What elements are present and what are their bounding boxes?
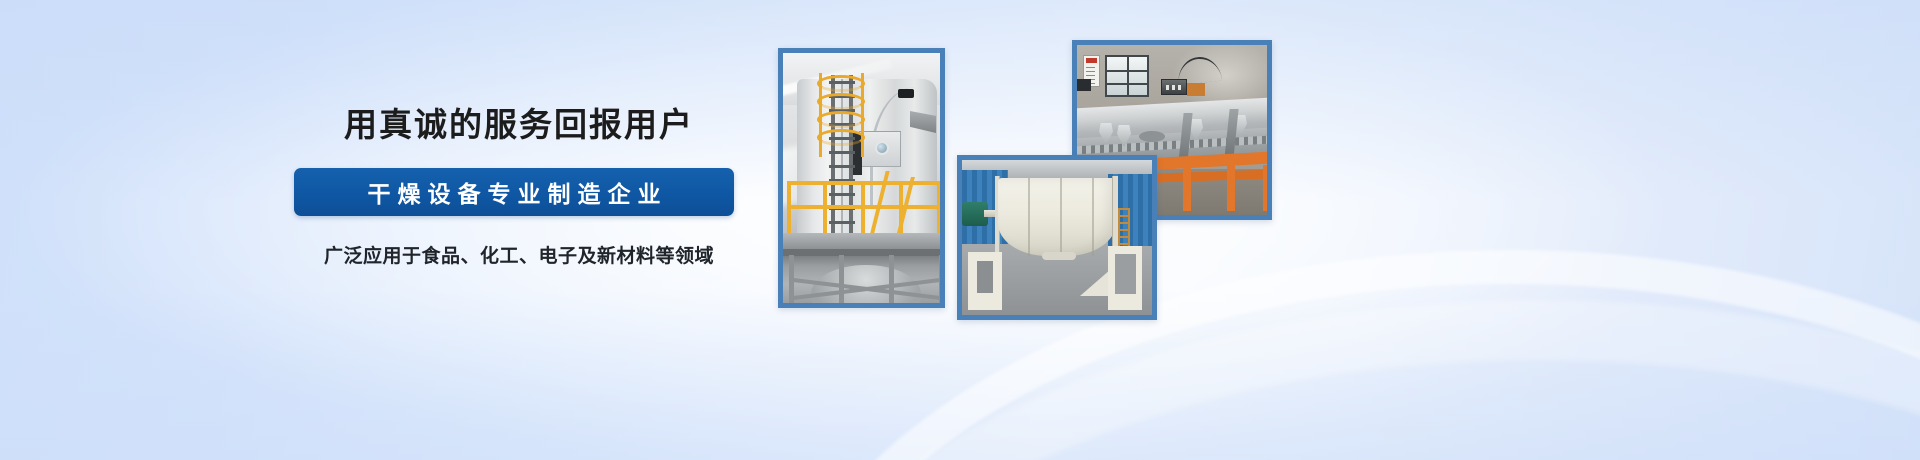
ladder-safety-cage xyxy=(817,73,867,157)
support-stand-right xyxy=(1108,246,1142,310)
support-stand-left xyxy=(968,252,1002,310)
support-legs xyxy=(789,255,945,303)
photo-spray-dryer-tower xyxy=(778,48,945,308)
ribbon-blender-scene xyxy=(962,160,1152,315)
tagline-badge-label: 干燥设备专业制造企业 xyxy=(361,175,668,209)
wall-box xyxy=(1077,79,1091,91)
hero-banner: 用真诚的服务回报用户 干燥设备专业制造企业 广泛应用于食品、化工、电子及新材料等… xyxy=(0,0,1920,460)
discharge-pipe xyxy=(1042,252,1076,260)
banner-subtitle: 广泛应用于食品、化工、电子及新材料等领域 xyxy=(294,241,744,268)
workshop-window xyxy=(1105,55,1149,97)
junction-box xyxy=(1187,83,1205,96)
platform-railing-right xyxy=(878,171,934,233)
ceiling-fixture xyxy=(898,89,914,98)
frame-leg-3 xyxy=(1183,165,1191,211)
blender-vessel xyxy=(998,178,1116,256)
frame-leg-5 xyxy=(1263,165,1271,211)
dryer-viewport xyxy=(1139,131,1165,142)
photo-ribbon-blender xyxy=(957,155,1157,320)
tagline-badge: 干燥设备专业制造企业 xyxy=(294,168,734,216)
control-panel xyxy=(1161,79,1187,95)
tower-sight-glass xyxy=(875,141,889,155)
platform-deck xyxy=(783,233,940,249)
spray-dryer-scene xyxy=(783,53,940,303)
banner-copy: 用真诚的服务回报用户 干燥设备专业制造企业 广泛应用于食品、化工、电子及新材料等… xyxy=(294,105,744,268)
frame-leg-4 xyxy=(1227,165,1235,211)
page-title: 用真诚的服务回报用户 xyxy=(294,105,744,145)
